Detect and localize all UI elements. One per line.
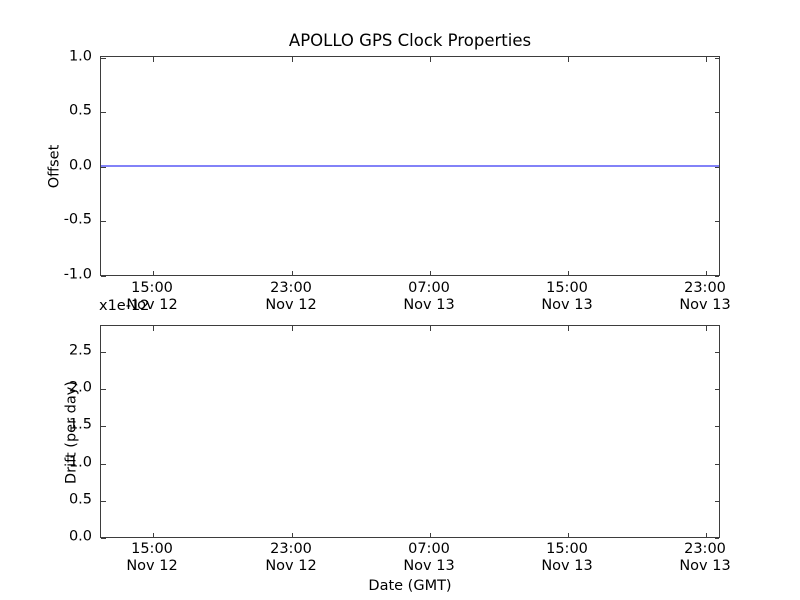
xtick-label-offset-2-date: Nov 13 — [403, 297, 454, 314]
ytick-label-drift-5: 2.5 — [22, 343, 92, 360]
xtick-label-drift-4-time: 23:00 — [679, 541, 730, 558]
ytick-offset-3 — [101, 112, 106, 113]
xtick-offset-4 — [706, 271, 707, 276]
offset-plot-area — [101, 57, 719, 275]
ytick-offset-3-right — [715, 112, 720, 113]
xtick-label-offset-4-date: Nov 13 — [679, 297, 730, 314]
xtick-drift-3-top — [568, 326, 569, 331]
ytick-drift-1 — [101, 501, 106, 502]
xtick-offset-4-top — [706, 57, 707, 62]
xtick-label-drift-2-time: 07:00 — [403, 541, 454, 558]
ytick-drift-0-right — [715, 538, 720, 539]
xtick-drift-1 — [292, 533, 293, 538]
xtick-drift-1-top — [292, 326, 293, 331]
ytick-drift-0 — [101, 538, 106, 539]
drift-plot-area — [101, 326, 719, 537]
xtick-label-offset-2: 07:00 Nov 13 — [403, 280, 454, 314]
xtick-label-offset-3-time: 15:00 — [541, 280, 592, 297]
ytick-drift-1-right — [715, 501, 720, 502]
ytick-drift-4 — [101, 389, 106, 390]
xtick-drift-0 — [153, 533, 154, 538]
ytick-label-drift-1: 0.5 — [22, 492, 92, 509]
xtick-drift-4-top — [706, 326, 707, 331]
offset-data-line — [101, 165, 719, 167]
ytick-label-drift-2: 1.0 — [22, 455, 92, 472]
offset-y-axis-label: Offset — [47, 107, 64, 227]
xtick-drift-3 — [568, 533, 569, 538]
ytick-offset-2 — [101, 167, 106, 168]
xtick-label-drift-4-date: Nov 13 — [679, 558, 730, 575]
xtick-offset-0 — [153, 271, 154, 276]
xtick-label-offset-4: 23:00 Nov 13 — [679, 280, 730, 314]
ytick-label-drift-4: 2.0 — [22, 380, 92, 397]
xtick-label-drift-1: 23:00 Nov 12 — [265, 541, 316, 575]
xtick-drift-4 — [706, 533, 707, 538]
ytick-offset-1 — [101, 221, 106, 222]
xtick-drift-2 — [430, 533, 431, 538]
xtick-label-drift-0-time: 15:00 — [126, 541, 177, 558]
ytick-drift-5 — [101, 352, 106, 353]
ytick-label-drift-3: 1.5 — [22, 417, 92, 434]
ytick-label-offset-0: -1.0 — [22, 267, 92, 284]
ytick-offset-0 — [101, 276, 106, 277]
ytick-label-drift-0: 0.0 — [22, 529, 92, 546]
matplotlib-figure: APOLLO GPS Clock Properties -1.0 -0.5 0.… — [0, 0, 800, 600]
xtick-label-drift-2-date: Nov 13 — [403, 558, 454, 575]
xtick-offset-1 — [292, 271, 293, 276]
xtick-label-drift-2: 07:00 Nov 13 — [403, 541, 454, 575]
xtick-offset-1-top — [292, 57, 293, 62]
xtick-label-offset-3-date: Nov 13 — [541, 297, 592, 314]
figure-title: APOLLO GPS Clock Properties — [100, 31, 720, 51]
offset-plot-axes — [100, 56, 720, 276]
xtick-label-drift-0-date: Nov 12 — [126, 558, 177, 575]
xtick-offset-2 — [430, 271, 431, 276]
ytick-drift-2-right — [715, 464, 720, 465]
ytick-offset-2-right — [715, 167, 720, 168]
ytick-drift-3 — [101, 426, 106, 427]
xtick-drift-0-top — [153, 326, 154, 331]
ytick-offset-0-right — [715, 276, 720, 277]
xtick-label-offset-2-time: 07:00 — [403, 280, 454, 297]
xtick-label-drift-1-date: Nov 12 — [265, 558, 316, 575]
xtick-label-offset-1: 23:00 Nov 12 — [265, 280, 316, 314]
ytick-drift-4-right — [715, 389, 720, 390]
ytick-offset-1-right — [715, 221, 720, 222]
ytick-drift-5-right — [715, 352, 720, 353]
xtick-label-offset-0-time: 15:00 — [126, 280, 177, 297]
ytick-drift-3-right — [715, 426, 720, 427]
xtick-label-drift-0: 15:00 Nov 12 — [126, 541, 177, 575]
xtick-offset-3 — [568, 271, 569, 276]
xtick-offset-3-top — [568, 57, 569, 62]
ytick-drift-2 — [101, 464, 106, 465]
ytick-offset-4-right — [715, 58, 720, 59]
xtick-label-drift-3-date: Nov 13 — [541, 558, 592, 575]
xtick-drift-2-top — [430, 326, 431, 331]
xtick-label-drift-3-time: 15:00 — [541, 541, 592, 558]
xtick-label-drift-3: 15:00 Nov 13 — [541, 541, 592, 575]
drift-axis-exponent-offset-text: x1e-12 — [99, 298, 149, 315]
drift-y-axis-label: Drift (per day) — [64, 343, 81, 523]
xtick-label-offset-3: 15:00 Nov 13 — [541, 280, 592, 314]
xtick-label-drift-1-time: 23:00 — [265, 541, 316, 558]
drift-x-axis-label: Date (GMT) — [100, 578, 720, 595]
xtick-offset-0-top — [153, 57, 154, 62]
ytick-label-offset-4: 1.0 — [22, 49, 92, 66]
xtick-label-offset-1-date: Nov 12 — [265, 297, 316, 314]
xtick-label-offset-1-time: 23:00 — [265, 280, 316, 297]
xtick-label-drift-4: 23:00 Nov 13 — [679, 541, 730, 575]
xtick-offset-2-top — [430, 57, 431, 62]
drift-plot-axes — [100, 325, 720, 538]
xtick-label-offset-4-time: 23:00 — [679, 280, 730, 297]
ytick-offset-4 — [101, 58, 106, 59]
